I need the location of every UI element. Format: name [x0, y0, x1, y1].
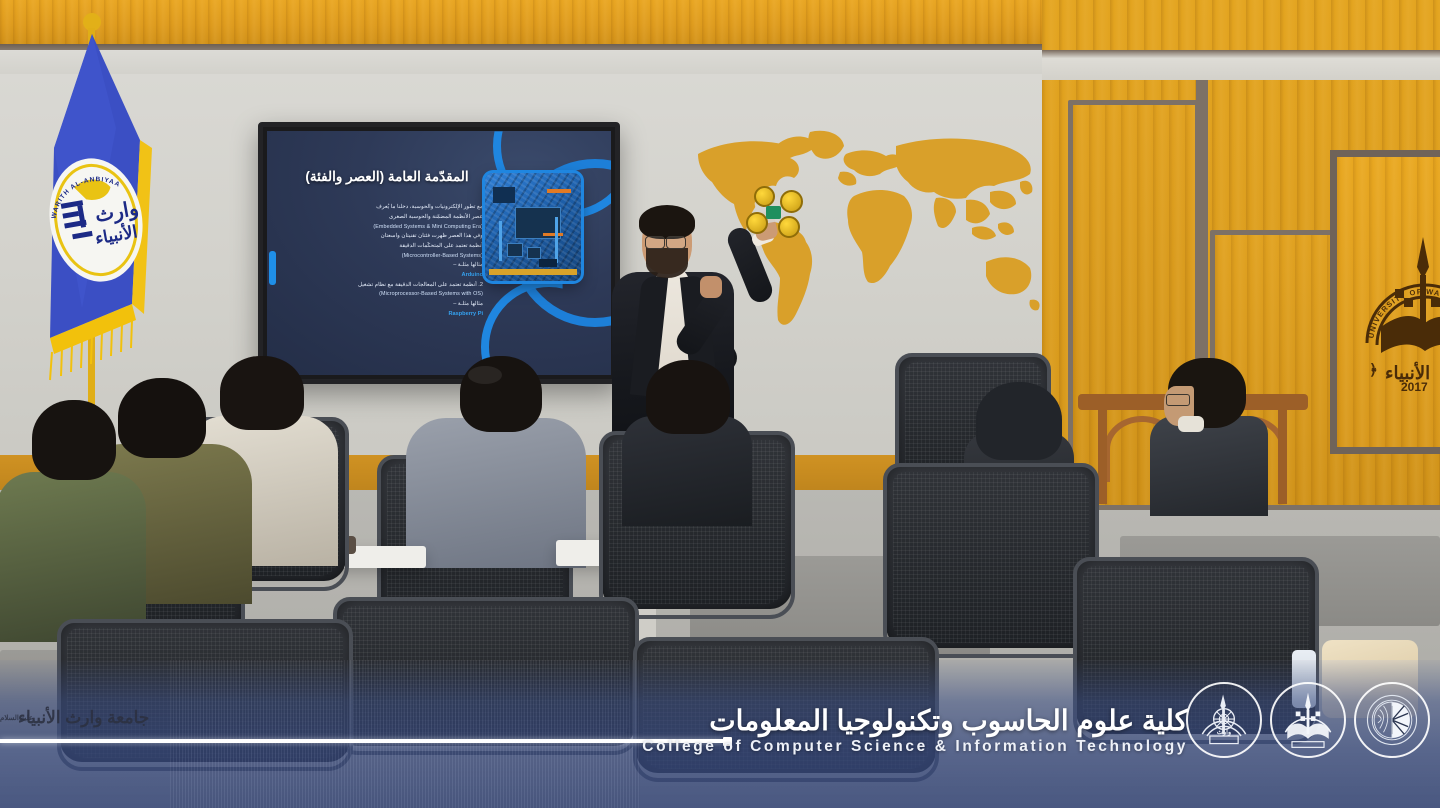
logo-college-seal [1270, 682, 1346, 758]
audience-collar [1178, 416, 1204, 432]
wooden-chair-leg [1098, 410, 1107, 504]
banner-english-title: College of Computer Science & Informatio… [642, 738, 1188, 756]
presenter-left-hand [700, 276, 722, 298]
eyeglasses-icon [666, 236, 686, 249]
university-flag: وارث الأنبياء WARITH AL-ANBIYAA [36, 8, 156, 428]
eyeglasses-icon [1166, 394, 1190, 406]
svg-text:وارث: وارث [1217, 728, 1231, 736]
audience-head [460, 356, 542, 432]
eyeglasses-icon [645, 236, 665, 249]
chair-frame [883, 463, 1099, 658]
audience-hood [976, 382, 1062, 460]
slide-body: مع تطور الإلكترونيات والحوسبة، دخلنا ما … [275, 203, 489, 319]
audience-torso [1150, 416, 1268, 516]
slide-line: أنظمة تعتمد على المتحكّمات الدقيقة [275, 242, 483, 252]
wooden-chair-leg [1278, 410, 1287, 504]
slide-line: وفي هذا العصر ظهرت فئتان تقنيتان واسعتان [275, 232, 483, 242]
audience-head [118, 378, 206, 458]
slide-line: 2. أنظمة تعتمد على المعالجات الدقيقة مع … [275, 281, 483, 291]
slide-line: (Embedded Systems & Mini Computing Era) [275, 223, 483, 232]
robot-wheel [780, 190, 803, 213]
logo-college-seal-icon [1275, 687, 1341, 753]
screenshot-root: ﴿ الأنبياء 2017 UNIVERSITY OF WARITH AL-… [0, 0, 1440, 808]
logo-university-warith: وارث [1186, 682, 1262, 758]
robot-wheel [746, 212, 768, 234]
audience-torso [0, 472, 146, 642]
presentation-display: المقدّمة العامة (العصر والفئة) مع تطور ا… [258, 122, 620, 384]
university-emblem-plaque: ﴿ الأنبياء 2017 UNIVERSITY OF WARITH AL-… [1330, 150, 1440, 454]
slide-line: عصر الأنظمة المضمّنة والحوسبة الصغرى [275, 213, 483, 223]
logo-university-warith-icon: وارث [1191, 687, 1257, 753]
robot-motor [766, 206, 781, 219]
slide-line-highlight: Raspberry Pi [275, 310, 483, 320]
branding-banner: جامعة وارث الأنبياء عليه السلام كلية علو… [0, 660, 1440, 808]
presenter-beard [646, 248, 688, 278]
hair-highlight [468, 366, 502, 384]
plaque-emblem-icon: ﴿ الأنبياء 2017 UNIVERSITY OF WARITH AL-… [1347, 223, 1440, 403]
logo-third-seal-icon [1359, 687, 1425, 753]
banner-divider-rule [0, 739, 723, 743]
wood-wall-horizontal-band [1042, 50, 1440, 80]
banner-left-arabic: جامعة وارث الأنبياء [18, 708, 149, 728]
slide-line: (Microprocessor-Based Systems with OS) [275, 290, 483, 299]
slide-line: مثالها مثلـة – [275, 261, 483, 271]
audience-head [646, 360, 730, 434]
audience-head [32, 400, 116, 480]
robot-wheel [778, 216, 800, 238]
audience-head [220, 356, 304, 430]
presenter-hair [639, 205, 695, 239]
banner-texture [170, 660, 640, 808]
banner-logos: وارث [1186, 682, 1430, 758]
logo-third-seal [1354, 682, 1430, 758]
slide-line: مثالها مثلـة – [275, 300, 483, 310]
slide-line-highlight: Arduino [275, 271, 483, 281]
slide-line: مع تطور الإلكترونيات والحوسبة، دخلنا ما … [275, 203, 483, 213]
banner-left-arabic-sub: عليه السلام [0, 714, 33, 722]
slide-title: المقدّمة العامة (العصر والفئة) [303, 169, 471, 185]
robot-car-demo [742, 182, 804, 238]
banner-arabic-title: كلية علوم الحاسوب وتكنولوجيا المعلومات [709, 704, 1188, 737]
robot-wheel [754, 186, 775, 207]
svg-text:﴿: ﴿ [1369, 362, 1378, 379]
plaque-year: 2017 [1401, 380, 1428, 394]
circuit-board-image [485, 173, 581, 281]
slide-screen: المقدّمة العامة (العصر والفئة) مع تطور ا… [267, 131, 611, 375]
slide-line: (Microcontroller-Based Systems) [275, 252, 483, 261]
